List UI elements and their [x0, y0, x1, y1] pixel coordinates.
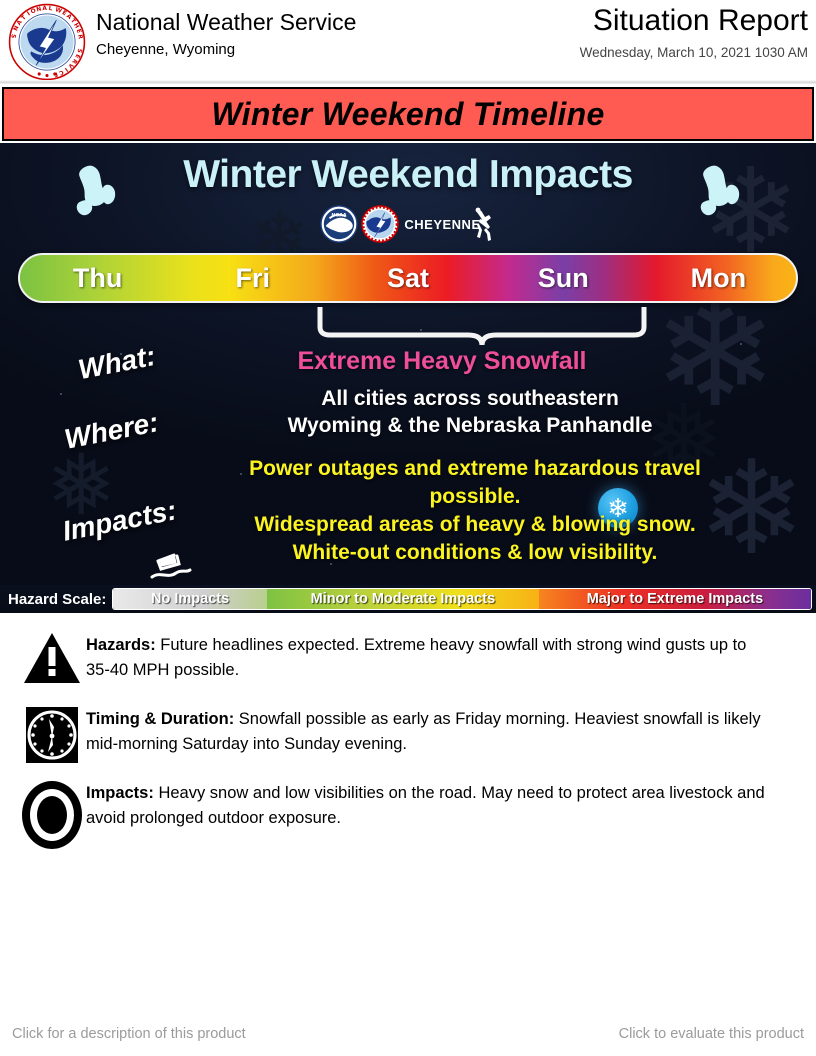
- impacts-line-4: White-out conditions & low visibility.: [170, 539, 780, 567]
- banner-title: Winter Weekend Timeline: [211, 96, 604, 133]
- impacts-line-2: possible.: [170, 483, 780, 511]
- report-title: Situation Report: [580, 6, 808, 36]
- agency-name: National Weather Service: [96, 10, 356, 35]
- page-header: NWS N A T I O N A L W E A T H E R S S: [0, 0, 816, 84]
- timeline-span-brace: [316, 307, 648, 345]
- timeline-day-thu: Thu: [20, 263, 175, 294]
- bullet-impacts-heading: Impacts:: [86, 784, 154, 802]
- timeline-day-sat: Sat: [330, 263, 485, 294]
- noaa-seal-icon: NOAA: [320, 205, 358, 243]
- timeline-day-fri: Fri: [175, 263, 330, 294]
- bullet-timing: Timing & Duration: Snowfall possible as …: [0, 705, 816, 765]
- bullet-hazards: Hazards: Future headlines expected. Extr…: [0, 631, 816, 691]
- detail-bullets: Hazards: Future headlines expected. Extr…: [0, 613, 816, 839]
- office-name: Cheyenne, Wyoming: [96, 41, 356, 58]
- bullet-impacts-text: Impacts: Heavy snow and low visibilities…: [86, 779, 768, 831]
- hazard-scale-bar: No Impacts Minor to Moderate Impacts Maj…: [112, 588, 812, 610]
- impacts-line-3: Widespread areas of heavy & blowing snow…: [170, 511, 780, 539]
- bullet-timing-text: Timing & Duration: Snowfall possible as …: [86, 705, 768, 757]
- where-line-1: All cities across southeastern: [190, 386, 750, 413]
- bullet-hazards-body: Future headlines expected. Extreme heavy…: [86, 636, 746, 679]
- timeline-day-mon: Mon: [641, 263, 796, 294]
- hazard-segment-major-extreme: Major to Extreme Impacts: [539, 589, 811, 609]
- where-value: All cities across southeastern Wyoming &…: [190, 386, 750, 440]
- bullet-hazards-heading: Hazards:: [86, 636, 156, 654]
- bucking-horse-icon: [470, 205, 496, 243]
- bullseye-icon: [18, 779, 86, 839]
- nws-seal-icon: NWS N A T I O N A L W E A T H E R S S: [8, 3, 86, 81]
- snow-speck: [60, 393, 62, 395]
- graphic-title: Winter Weekend Impacts: [0, 153, 816, 197]
- hazard-scale-label: Hazard Scale:: [4, 591, 112, 608]
- bullet-impacts-body: Heavy snow and low visibilities on the r…: [86, 784, 765, 827]
- timeline-banner: Winter Weekend Timeline: [2, 87, 814, 141]
- clock-icon: [18, 705, 86, 765]
- hazard-segment-minor-moderate: Minor to Moderate Impacts: [267, 589, 539, 609]
- impacts-line-1: Power outages and extreme hazardous trav…: [170, 455, 780, 483]
- snow-speck: [740, 343, 742, 345]
- bullet-timing-heading: Timing & Duration:: [86, 710, 234, 728]
- warning-triangle-icon: [18, 631, 86, 691]
- timeline-day-sun: Sun: [486, 263, 641, 294]
- bullet-impacts: Impacts: Heavy snow and low visibilities…: [0, 779, 816, 839]
- where-line-2: Wyoming & the Nebraska Panhandle: [190, 413, 750, 440]
- nws-seal-small-icon: [361, 205, 399, 243]
- impacts-graphic: ❄ ❄ ❅ ❄ ❅ ❄ Winter Weekend Impacts: [0, 143, 816, 613]
- day-timeline-bar: Thu Fri Sat Sun Mon: [18, 253, 798, 303]
- hazard-scale: Hazard Scale: No Impacts Minor to Modera…: [0, 585, 816, 613]
- office-logo-row: NOAA CHEYENNE: [0, 205, 816, 243]
- hazard-segment-no-impacts: No Impacts: [113, 589, 266, 609]
- what-value: Extreme Heavy Snowfall: [232, 347, 652, 376]
- header-agency-block: National Weather Service Cheyenne, Wyomi…: [96, 10, 356, 58]
- header-report-block: Situation Report Wednesday, March 10, 20…: [580, 6, 808, 60]
- report-timestamp: Wednesday, March 10, 2021 1030 AM: [580, 45, 808, 60]
- svg-text:NOAA: NOAA: [332, 212, 348, 218]
- row-label-impacts: Impacts:: [60, 494, 179, 547]
- impacts-value: Power outages and extreme hazardous trav…: [170, 455, 780, 567]
- bullet-hazards-text: Hazards: Future headlines expected. Extr…: [86, 631, 768, 683]
- header-divider: [0, 80, 816, 84]
- description-link[interactable]: Click for a description of this product: [12, 1026, 246, 1042]
- page-footer: Click for a description of this product …: [0, 1026, 816, 1042]
- evaluate-link[interactable]: Click to evaluate this product: [619, 1026, 804, 1042]
- row-label-where: Where:: [62, 406, 161, 456]
- row-label-what: What:: [76, 340, 158, 386]
